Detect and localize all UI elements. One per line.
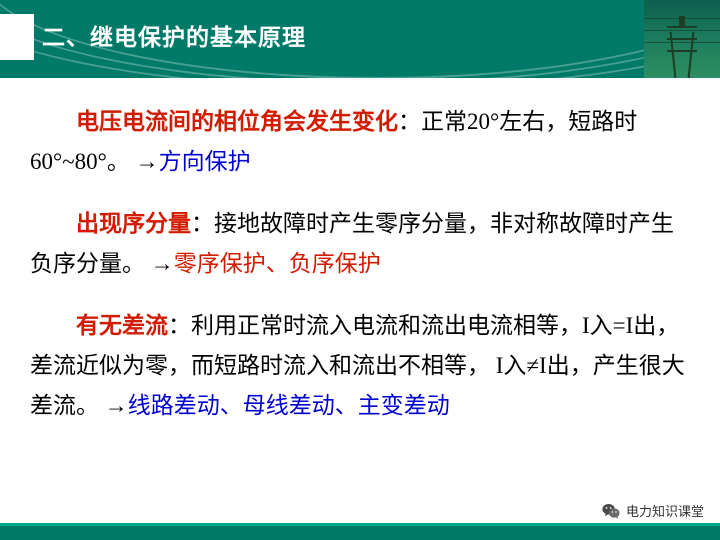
- wechat-icon: [602, 503, 620, 519]
- paragraph-1: 电压电流间的相位角会发生变化：正常20°左右，短路时60°~80°。 →方向保护: [0, 102, 720, 182]
- page-title: 二、继电保护的基本原理: [42, 18, 306, 52]
- para3-run-3: 线路差动、母线差动、主变差动: [128, 393, 450, 418]
- paragraph-2: 出现序分量：接地故障时产生零序分量，非对称故障时产生负序分量。 →零序保护、负序…: [0, 204, 720, 284]
- wechat-credit: 电力知识课堂: [602, 501, 704, 520]
- wechat-label: 电力知识课堂: [626, 501, 704, 520]
- transmission-tower-photo: [644, 0, 720, 78]
- para1-run-3: 方向保护: [159, 149, 251, 174]
- slide-footer: 电力知识课堂: [0, 490, 720, 540]
- slide-header: 二、继电保护的基本原理: [0, 0, 720, 78]
- slide-content: 电压电流间的相位角会发生变化：正常20°左右，短路时60°~80°。 →方向保护…: [0, 88, 720, 488]
- slide: 二、继电保护的基本原理 电压电流间的相位角会发生变化：正常20°左右，短路时60…: [0, 0, 720, 540]
- footer-bar: [0, 526, 720, 540]
- para1-run-1: 电压电流间的相位角会发生变化: [76, 109, 398, 134]
- para2-run-3: 零序保护、负序保护: [174, 251, 381, 276]
- paragraph-3: 有无差流：利用正常时流入电流和流出电流相等，I入=I出，差流近似为零，而短路时流…: [0, 306, 720, 426]
- para2-run-1: 出现序分量: [76, 211, 191, 236]
- para3-run-1: 有无差流: [76, 313, 168, 338]
- tower-icon: [670, 16, 694, 78]
- header-left-accent: [0, 14, 34, 60]
